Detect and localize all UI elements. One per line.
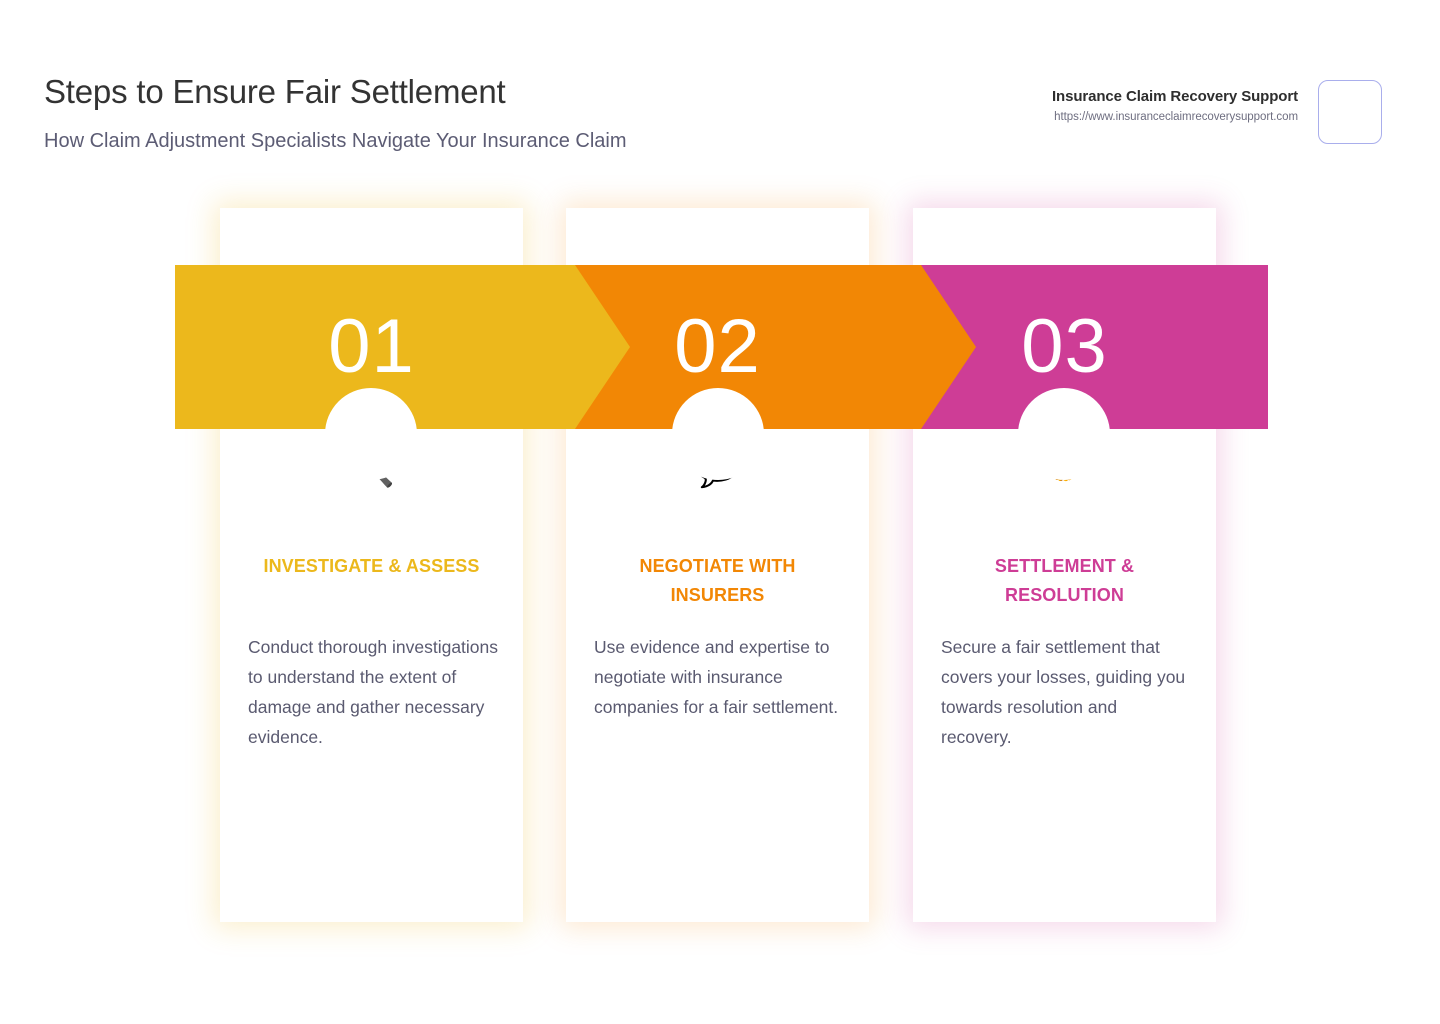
- handshake-icon: 🤝: [913, 448, 1216, 486]
- chevron-band-1: [175, 265, 630, 429]
- chevron-banner-svg: [175, 265, 1268, 429]
- page-title: Steps to Ensure Fair Settlement: [44, 72, 724, 112]
- step-body-2: Use evidence and expertise to negotiate …: [594, 632, 845, 722]
- infographic-page: Steps to Ensure Fair Settlement How Clai…: [0, 0, 1440, 1024]
- page-subtitle: How Claim Adjustment Specialists Navigat…: [44, 126, 664, 157]
- header-title-block: Steps to Ensure Fair Settlement How Clai…: [44, 72, 724, 157]
- magnifying-glass-icon: 🔍: [220, 448, 523, 486]
- chevron-banner-row: 01 02 03: [175, 265, 1268, 429]
- step-heading-1: INVESTIGATE & ASSESS: [246, 552, 497, 581]
- step-heading-2: NEGOTIATE WITH INSURERS: [592, 552, 843, 610]
- step-body-1: Conduct thorough investigations to under…: [248, 632, 499, 752]
- brand-logo-placeholder: [1318, 80, 1382, 144]
- speech-balloon-icon: 💬: [566, 448, 869, 486]
- brand-text: Insurance Claim Recovery Support https:/…: [1052, 80, 1298, 123]
- brand-url[interactable]: https://www.insuranceclaimrecoverysuppor…: [1052, 111, 1298, 123]
- brand-block: Insurance Claim Recovery Support https:/…: [1052, 80, 1382, 144]
- step-heading-3: SETTLEMENT & RESOLUTION: [939, 552, 1190, 610]
- brand-name: Insurance Claim Recovery Support: [1052, 88, 1298, 105]
- step-body-3: Secure a fair settlement that covers you…: [941, 632, 1192, 752]
